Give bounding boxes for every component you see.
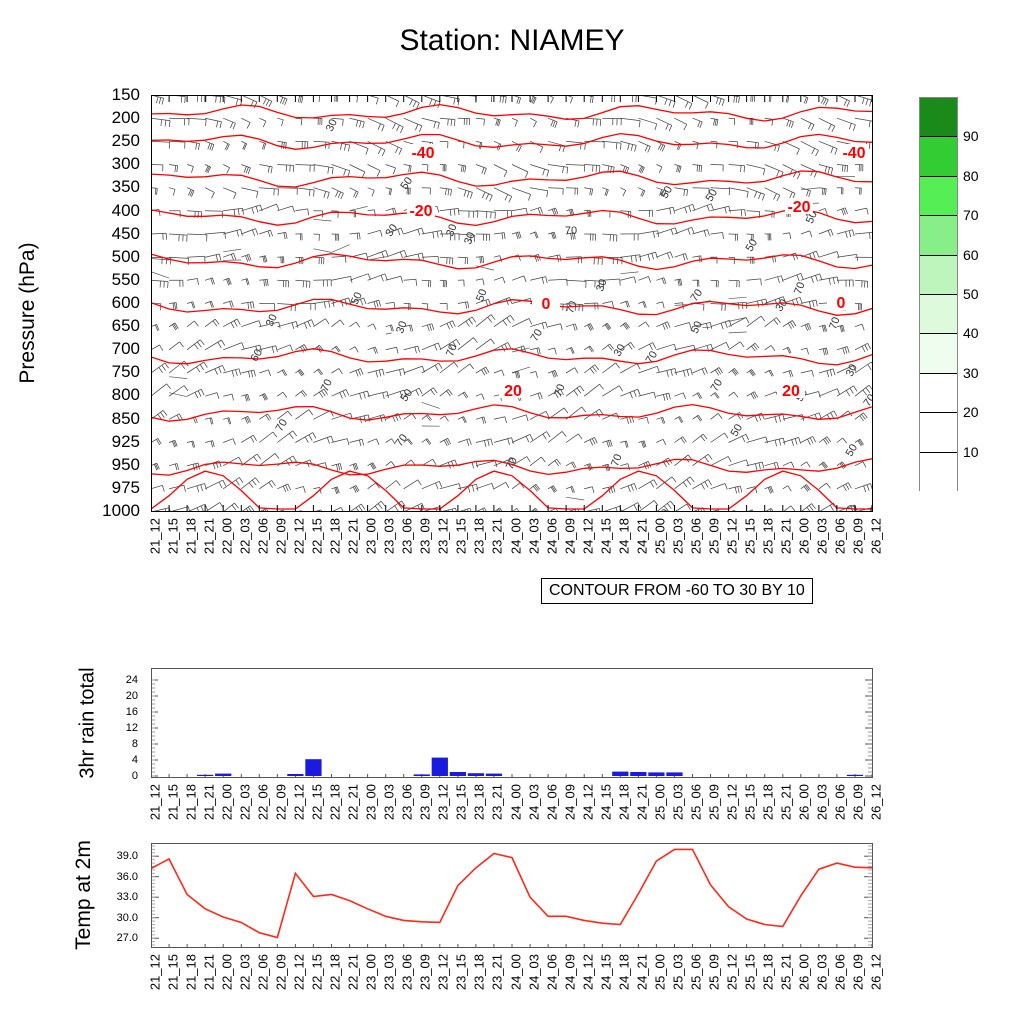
time-tick-label: 24_06: [544, 954, 559, 990]
temp-tick-label: 33.0: [117, 891, 138, 903]
time-tick-label: 26_12: [869, 518, 884, 554]
time-tick-label: 22_21: [346, 954, 361, 990]
rain-tick-label: 16: [126, 706, 138, 718]
time-tick-label: 23_21: [490, 954, 505, 990]
time-tick-label: 24_00: [508, 518, 523, 554]
time-tick-label: 24_15: [598, 518, 613, 554]
time-tick-label: 24_18: [616, 784, 631, 820]
time-tick-label: 23_00: [364, 954, 379, 990]
time-tick-label: 25_06: [688, 954, 703, 990]
time-tick-label: 21_12: [148, 518, 163, 554]
pressure-tick-label: 950: [112, 455, 140, 475]
pressure-tick-label: 800: [112, 385, 140, 405]
svg-text:0: 0: [837, 295, 846, 312]
time-tick-label: 21_12: [148, 784, 163, 820]
time-tick-label: 25_15: [742, 518, 757, 554]
temp-time-ticks: 21_1221_1521_1821_2122_0022_0322_0622_09…: [151, 954, 873, 1024]
time-tick-label: 25_12: [724, 954, 739, 990]
time-tick-label: 26_03: [814, 954, 829, 990]
colorbar-band: [920, 216, 957, 255]
time-tick-label: 23_03: [382, 518, 397, 554]
time-tick-label: 24_00: [508, 954, 523, 990]
time-tick-label: 25_03: [670, 784, 685, 820]
time-tick-label: 24_12: [580, 954, 595, 990]
time-tick-label: 23_09: [418, 954, 433, 990]
time-tick-label: 23_18: [472, 954, 487, 990]
temp-line: [151, 849, 873, 937]
colorbar-tick-label: 40: [963, 325, 979, 341]
time-tick-label: 22_03: [238, 954, 253, 990]
time-tick-label: 25_15: [742, 784, 757, 820]
temp-tick-label: 30.0: [117, 912, 138, 924]
time-tick-label: 22_15: [310, 784, 325, 820]
time-tick-label: 25_09: [706, 784, 721, 820]
time-tick-label: 24_15: [598, 784, 613, 820]
page-title: Station: NIAMEY: [0, 24, 1024, 58]
temp-plot: [151, 843, 873, 948]
time-tick-label: 21_15: [166, 518, 181, 554]
pressure-tick-label: 650: [112, 316, 140, 336]
rain-tick-label: 24: [126, 674, 138, 686]
time-tick-label: 23_15: [454, 954, 469, 990]
time-tick-label: 24_21: [634, 954, 649, 990]
time-tick-label: 24_09: [562, 954, 577, 990]
time-tick-label: 23_06: [400, 784, 415, 820]
colorbar-tick-label: 90: [963, 128, 979, 144]
time-tick-label: 23_00: [364, 784, 379, 820]
time-tick-label: 24_12: [580, 784, 595, 820]
time-tick-label: 21_18: [184, 518, 199, 554]
humidity-cross-section-panel: 3050305070305070503050303060707050707070…: [151, 95, 873, 512]
svg-text:20: 20: [504, 383, 522, 400]
temp-axis-ticks: 27.030.033.036.039.0: [88, 843, 144, 948]
pressure-tick-label: 1000: [102, 501, 140, 521]
pressure-tick-label: 300: [112, 154, 140, 174]
time-tick-label: 23_00: [364, 518, 379, 554]
temp-axis-title-host: Temp at 2m: [84, 843, 85, 948]
time-tick-label: 26_12: [869, 784, 884, 820]
pressure-tick-label: 550: [112, 270, 140, 290]
time-tick-label: 22_09: [274, 784, 289, 820]
time-tick-label: 21_21: [202, 784, 217, 820]
time-tick-label: 22_00: [220, 954, 235, 990]
time-tick-label: 26_00: [796, 784, 811, 820]
time-tick-label: 26_00: [796, 954, 811, 990]
time-tick-label: 25_06: [688, 518, 703, 554]
pressure-tick-label: 200: [112, 108, 140, 128]
humidity-colorbar-ticks: 908070605040302010: [963, 97, 1015, 491]
temp-tick-label: 39.0: [117, 850, 138, 862]
humidity-colorbar: [919, 97, 958, 491]
temp-tick-label: 27.0: [117, 932, 138, 944]
pressure-tick-label: 450: [112, 224, 140, 244]
pressure-tick-label: 850: [112, 409, 140, 429]
time-tick-label: 23_15: [454, 784, 469, 820]
time-tick-label: 22_00: [220, 784, 235, 820]
time-tick-label: 26_03: [814, 784, 829, 820]
pressure-tick-label: 400: [112, 201, 140, 221]
colorbar-tick-label: 30: [963, 365, 979, 381]
time-tick-label: 25_00: [652, 784, 667, 820]
time-tick-label: 26_09: [850, 784, 865, 820]
pressure-tick-label: 750: [112, 362, 140, 382]
time-tick-label: 23_12: [436, 784, 451, 820]
pressure-tick-label: 925: [112, 432, 140, 452]
colorbar-tick-label: 20: [963, 404, 979, 420]
time-tick-label: 22_18: [328, 784, 343, 820]
time-tick-label: 23_18: [472, 518, 487, 554]
time-tick-label: 23_09: [418, 518, 433, 554]
time-tick-label: 24_03: [526, 954, 541, 990]
time-tick-label: 24_18: [616, 518, 631, 554]
pressure-tick-label: 150: [112, 85, 140, 105]
time-tick-label: 22_12: [292, 954, 307, 990]
time-tick-label: 22_15: [310, 518, 325, 554]
pressure-tick-label: 975: [112, 478, 140, 498]
time-tick-label: 23_21: [490, 518, 505, 554]
wind-barbs: [151, 95, 873, 512]
time-tick-label: 22_03: [238, 518, 253, 554]
colorbar-tick-label: 80: [963, 168, 979, 184]
rain-axis-title-host: 3hr rain total: [88, 668, 89, 778]
colorbar-band: [920, 334, 957, 373]
time-tick-label: 22_21: [346, 784, 361, 820]
rain-tick-label: 12: [126, 722, 138, 734]
pressure-axis-title-host: Pressure (hPa): [32, 95, 33, 512]
time-tick-label: 22_18: [328, 954, 343, 990]
time-tick-label: 23_06: [400, 518, 415, 554]
time-tick-label: 25_18: [760, 518, 775, 554]
colorbar-band: [920, 453, 957, 492]
time-tick-label: 26_09: [850, 954, 865, 990]
time-tick-label: 25_12: [724, 784, 739, 820]
time-tick-label: 25_09: [706, 954, 721, 990]
time-tick-label: 22_06: [256, 784, 271, 820]
cross-section-plot: 3050305070305070503050303060707050707070…: [151, 95, 873, 512]
time-tick-label: 24_00: [508, 784, 523, 820]
time-tick-label: 23_03: [382, 954, 397, 990]
time-tick-label: 24_03: [526, 518, 541, 554]
time-tick-label: 23_12: [436, 954, 451, 990]
time-tick-label: 22_06: [256, 518, 271, 554]
rain-tick-label: 20: [126, 690, 138, 702]
time-tick-label: 24_12: [580, 518, 595, 554]
pressure-tick-label: 600: [112, 293, 140, 313]
time-tick-label: 23_06: [400, 954, 415, 990]
colorbar-tick-label: 70: [963, 207, 979, 223]
svg-text:-20: -20: [787, 199, 810, 216]
time-tick-label: 24_09: [562, 784, 577, 820]
colorbar-band: [920, 374, 957, 413]
time-tick-label: 21_12: [148, 954, 163, 990]
time-tick-label: 24_21: [634, 784, 649, 820]
time-tick-label: 21_18: [184, 784, 199, 820]
time-tick-label: 21_21: [202, 954, 217, 990]
time-tick-label: 22_09: [274, 518, 289, 554]
colorbar-tick-label: 60: [963, 247, 979, 263]
time-tick-label: 24_06: [544, 784, 559, 820]
weather-cross-section-page: Station: NIAMEY Pressure (hPa) 150200250…: [0, 0, 1024, 1024]
time-tick-label: 25_18: [760, 954, 775, 990]
time-tick-label: 22_00: [220, 518, 235, 554]
time-tick-label: 25_06: [688, 784, 703, 820]
temp-panel: [151, 843, 873, 948]
time-tick-label: 23_03: [382, 784, 397, 820]
time-tick-label: 26_06: [832, 784, 847, 820]
time-tick-label: 25_00: [652, 518, 667, 554]
time-tick-label: 25_15: [742, 954, 757, 990]
svg-text:20: 20: [782, 383, 800, 400]
svg-text:-40: -40: [842, 145, 865, 162]
pressure-tick-label: 500: [112, 247, 140, 267]
temp-tick-label: 36.0: [117, 871, 138, 883]
time-tick-label: 23_09: [418, 784, 433, 820]
pressure-tick-label: 700: [112, 339, 140, 359]
colorbar-tick-label: 50: [963, 286, 979, 302]
rain-tick-label: 4: [132, 754, 138, 766]
time-tick-label: 26_12: [869, 954, 884, 990]
time-tick-label: 26_06: [832, 518, 847, 554]
colorbar-band: [920, 98, 957, 137]
time-tick-label: 25_03: [670, 518, 685, 554]
pressure-axis-ticks: 1502002503003504004505005506006507007508…: [40, 95, 146, 512]
time-tick-label: 26_09: [850, 518, 865, 554]
time-tick-label: 26_06: [832, 954, 847, 990]
pressure-tick-label: 350: [112, 177, 140, 197]
time-tick-label: 23_21: [490, 784, 505, 820]
time-tick-label: 22_18: [328, 518, 343, 554]
time-tick-label: 25_00: [652, 954, 667, 990]
pressure-axis-title: Pressure (hPa): [16, 242, 40, 383]
svg-text:0: 0: [542, 296, 551, 313]
time-tick-label: 25_21: [778, 518, 793, 554]
svg-text:-20: -20: [409, 203, 432, 220]
time-tick-label: 26_03: [814, 518, 829, 554]
rain-axis-ticks: 04812162024: [96, 668, 144, 778]
time-tick-label: 21_21: [202, 518, 217, 554]
time-tick-label: 25_18: [760, 784, 775, 820]
time-tick-label: 22_03: [238, 784, 253, 820]
temperature-contours: [151, 105, 873, 509]
time-tick-label: 23_15: [454, 518, 469, 554]
time-tick-label: 24_09: [562, 518, 577, 554]
rain-panel: [151, 668, 873, 778]
time-tick-label: 24_06: [544, 518, 559, 554]
time-tick-label: 22_21: [346, 518, 361, 554]
colorbar-band: [920, 295, 957, 334]
pressure-tick-label: 250: [112, 131, 140, 151]
time-tick-label: 22_12: [292, 784, 307, 820]
time-tick-label: 25_21: [778, 784, 793, 820]
colorbar-band: [920, 413, 957, 452]
time-tick-label: 24_03: [526, 784, 541, 820]
time-tick-label: 23_18: [472, 784, 487, 820]
rain-plot: [151, 668, 873, 778]
time-tick-label: 24_21: [634, 518, 649, 554]
rain-tick-label: 8: [132, 738, 138, 750]
colorbar-tick-label: 10: [963, 444, 979, 460]
time-tick-label: 22_12: [292, 518, 307, 554]
time-tick-label: 24_15: [598, 954, 613, 990]
time-tick-label: 25_21: [778, 954, 793, 990]
rain-bars: [197, 758, 863, 776]
svg-text:-40: -40: [411, 145, 434, 162]
time-tick-label: 22_06: [256, 954, 271, 990]
time-tick-label: 22_15: [310, 954, 325, 990]
time-tick-label: 24_18: [616, 954, 631, 990]
time-tick-label: 22_09: [274, 954, 289, 990]
rain-tick-label: 0: [132, 770, 138, 782]
colorbar-band: [920, 256, 957, 295]
time-tick-label: 25_03: [670, 954, 685, 990]
time-tick-label: 21_18: [184, 954, 199, 990]
time-tick-label: 26_00: [796, 518, 811, 554]
colorbar-band: [920, 137, 957, 176]
time-tick-label: 23_12: [436, 518, 451, 554]
time-tick-label: 25_09: [706, 518, 721, 554]
time-tick-label: 21_15: [166, 784, 181, 820]
colorbar-band: [920, 177, 957, 216]
time-tick-label: 21_15: [166, 954, 181, 990]
humidity-contour-labels: 3050305070305070503050303060707050707070…: [245, 114, 873, 512]
time-tick-label: 25_12: [724, 518, 739, 554]
contour-note: CONTOUR FROM -60 TO 30 BY 10: [541, 578, 813, 604]
